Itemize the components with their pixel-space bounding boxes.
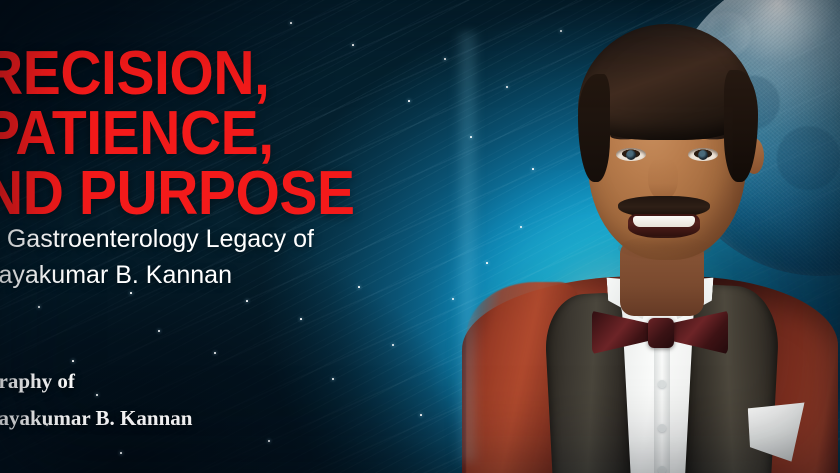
eye-left	[616, 148, 646, 161]
eye-right	[688, 148, 718, 161]
video-thumbnail-poster: RECISION, PATIENCE, ND PURPOSE e Gastroe…	[0, 0, 840, 473]
subtitle-text: e Gastroenterology Legacy of Jayakumar B…	[0, 222, 546, 293]
pupil-left	[626, 150, 636, 160]
shirt-button	[658, 466, 666, 473]
headline-title: RECISION, PATIENCE, ND PURPOSE	[0, 44, 571, 224]
nose	[648, 158, 678, 200]
shirt-button	[658, 380, 666, 388]
biography-caption: graphy of Jayakumar B. Kannan	[0, 363, 508, 438]
bow-tie-knot	[648, 318, 674, 348]
teeth	[633, 216, 695, 227]
shirt-button	[658, 424, 666, 432]
chin-shadow	[618, 236, 712, 260]
smiling-mouth	[628, 214, 700, 238]
pupil-right	[698, 150, 708, 160]
hair-side-left	[578, 74, 610, 182]
shirt-placket	[654, 338, 670, 473]
